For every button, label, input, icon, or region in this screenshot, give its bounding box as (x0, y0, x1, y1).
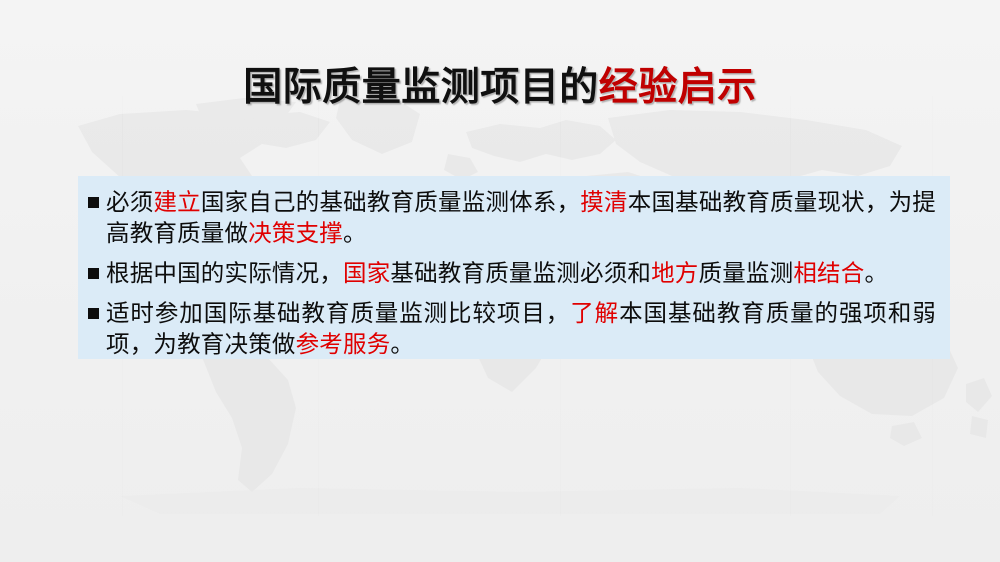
square-bullet-icon (88, 308, 99, 319)
plain-run: 国家自己的基础教育质量监测体系， (201, 189, 580, 215)
plain-run: 。 (343, 220, 367, 246)
list-item: 必须建立国家自己的基础教育质量监测体系，摸清本国基础教育质量现状，为提高教育质量… (88, 187, 936, 249)
plain-run: 质量监测 (699, 260, 794, 286)
plain-run: 根据中国的实际情况， (106, 260, 343, 286)
plain-run: 适时参加国际基础教育质量监测比较项目， (106, 300, 570, 326)
list-item: 根据中国的实际情况，国家基础教育质量监测必须和地方质量监测相结合。 (88, 258, 936, 289)
square-bullet-icon (88, 197, 99, 208)
list-item: 适时参加国际基础教育质量监测比较项目，了解本国基础教育质量的强项和弱项，为教育决… (88, 298, 936, 360)
highlighted-run: 决策支撑 (248, 220, 343, 246)
highlighted-run: 摸清 (580, 189, 627, 215)
bullet-text-3: 适时参加国际基础教育质量监测比较项目，了解本国基础教育质量的强项和弱项，为教育决… (106, 298, 936, 360)
highlighted-run: 国家 (343, 260, 390, 286)
title-accent-part: 经验启示 (599, 66, 757, 109)
title-text: 国际质量监测项目的经验启示 (243, 68, 757, 107)
highlighted-run: 参考服务 (296, 331, 391, 357)
highlighted-run: 建立 (153, 189, 200, 215)
content-panel: 必须建立国家自己的基础教育质量监测体系，摸清本国基础教育质量现状，为提高教育质量… (78, 176, 950, 359)
bullet-text-1: 必须建立国家自己的基础教育质量监测体系，摸清本国基础教育质量现状，为提高教育质量… (106, 187, 936, 249)
title-dark-part: 国际质量监测项目的 (243, 66, 599, 109)
highlighted-run: 相结合 (793, 260, 864, 286)
highlighted-run: 地方 (651, 260, 698, 286)
plain-run: 。 (864, 260, 888, 286)
page-title: 国际质量监测项目的经验启示 (0, 68, 1000, 107)
slide-canvas: 国际质量监测项目的经验启示 必须建立国家自己的基础教育质量监测体系，摸清本国基础… (0, 0, 1000, 562)
plain-run: 基础教育质量监测必须和 (390, 260, 651, 286)
plain-run: 。 (390, 331, 414, 357)
bullet-text-2: 根据中国的实际情况，国家基础教育质量监测必须和地方质量监测相结合。 (106, 258, 936, 289)
highlighted-run: 了解 (570, 300, 619, 326)
square-bullet-icon (88, 268, 99, 279)
plain-run: 必须 (106, 189, 153, 215)
